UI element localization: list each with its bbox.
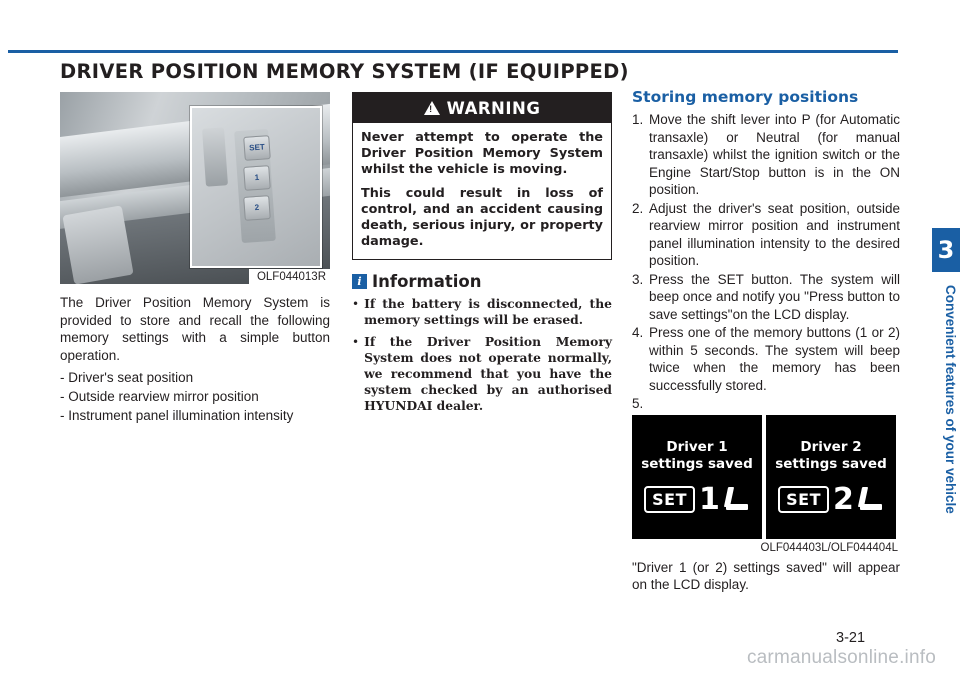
warning-paragraph: This could result in loss of control, an… — [361, 186, 603, 250]
step-item: 4. Press one of the memory buttons (1 or… — [632, 324, 900, 394]
information-title: Information — [372, 272, 482, 291]
lcd-glyph-row: SET 2 — [778, 485, 884, 515]
photo-image: SET 1 2 — [60, 92, 330, 284]
memory-button-callout: SET 1 2 — [190, 106, 322, 268]
lcd-line-1: Driver 2 — [800, 439, 861, 455]
lcd-line-2: settings saved — [641, 456, 753, 472]
chapter-number-tab: 3 — [932, 228, 960, 272]
column-middle: WARNING Never attempt to operate the Dri… — [352, 92, 612, 420]
step-item: 2. Adjust the driver's seat position, ou… — [632, 200, 900, 270]
lcd-row: Driver 1 settings saved SET 1 Driver 2 s… — [632, 415, 900, 539]
step-number: 1. — [632, 111, 649, 199]
seat-adjust-switch-graphic — [202, 127, 228, 186]
warning-paragraph: Never attempt to operate the Driver Posi… — [361, 130, 603, 178]
warning-title: WARNING — [447, 99, 541, 118]
lcd-driver-1-image: Driver 1 settings saved SET 1 — [632, 415, 762, 539]
lcd-figure: Driver 1 settings saved SET 1 Driver 2 s… — [632, 415, 900, 555]
closing-paragraph: "Driver 1 (or 2) settings saved" will ap… — [632, 559, 900, 594]
lcd-driver-2-image: Driver 2 settings saved SET 2 — [766, 415, 896, 539]
column-right: Storing memory positions 1. Move the shi… — [632, 88, 900, 594]
lcd-line-2: settings saved — [775, 456, 887, 472]
step-number: 4. — [632, 324, 649, 394]
photo-caption: OLF044013R — [249, 269, 330, 284]
information-body: • If the battery is disconnected, the me… — [352, 296, 612, 414]
bullet-text: If the battery is disconnected, the memo… — [364, 296, 612, 328]
warning-triangle-icon — [424, 101, 440, 115]
lcd-memory-number: 2 — [833, 485, 854, 515]
chapter-side-label: Convenient features of your vehicle — [934, 285, 958, 585]
step-text: Press the SET button. The system will be… — [649, 271, 900, 324]
step-text: Press one of the memory buttons (1 or 2)… — [649, 324, 900, 394]
watermark: carmanualsonline.info — [747, 647, 936, 669]
information-icon: i — [352, 274, 367, 289]
figure-caption: OLF044403L/OLF044404L — [755, 540, 900, 555]
intro-paragraph: The Driver Position Memory System is pro… — [60, 294, 330, 364]
warning-body: Never attempt to operate the Driver Posi… — [353, 123, 611, 259]
memory-button-2: 2 — [243, 195, 271, 221]
lcd-glyph-row: SET 1 — [644, 485, 750, 515]
memory-button-1: 1 — [243, 165, 271, 191]
information-header: i Information — [352, 272, 612, 291]
step-item: 3. Press the SET button. The system will… — [632, 271, 900, 324]
step-text — [649, 395, 900, 413]
lcd-line-1: Driver 1 — [666, 439, 727, 455]
step-text: Move the shift lever into P (for Automat… — [649, 111, 900, 199]
header-rule — [8, 50, 898, 53]
step-number: 3. — [632, 271, 649, 324]
list-item: - Outside rearview mirror position — [60, 387, 330, 406]
step-number: 2. — [632, 200, 649, 270]
step-item: 1. Move the shift lever into P (for Auto… — [632, 111, 900, 199]
lcd-set-label: SET — [644, 486, 695, 513]
information-bullet: • If the Driver Position Memory System d… — [352, 334, 612, 414]
warning-box: WARNING Never attempt to operate the Dri… — [352, 92, 612, 260]
step-number: 5. — [632, 395, 649, 413]
lcd-set-label: SET — [778, 486, 829, 513]
list-item: - Driver's seat position — [60, 368, 330, 387]
bullet-dot-icon: • — [352, 334, 359, 414]
seat-icon — [858, 487, 884, 513]
lcd-caption-row: OLF044403L/OLF044404L — [632, 539, 900, 555]
door-handle-graphic — [62, 205, 133, 284]
step-text: Adjust the driver's seat position, outsi… — [649, 200, 900, 270]
bullet-text: If the Driver Position Memory System doe… — [364, 334, 612, 414]
intro-list: - Driver's seat position - Outside rearv… — [60, 368, 330, 425]
page-number: 3-21 — [836, 630, 865, 646]
door-memory-buttons-photo: SET 1 2 OLF044013R — [60, 92, 330, 284]
section-heading: Storing memory positions — [632, 88, 900, 106]
bullet-dot-icon: • — [352, 296, 359, 328]
manual-page: DRIVER POSITION MEMORY SYSTEM (IF EQUIPP… — [0, 0, 960, 675]
information-bullet: • If the battery is disconnected, the me… — [352, 296, 612, 328]
warning-header: WARNING — [353, 93, 611, 123]
lcd-memory-number: 1 — [699, 485, 720, 515]
list-item: - Instrument panel illumination intensit… — [60, 406, 330, 425]
memory-set-button: SET — [243, 135, 271, 161]
step-item: 5. — [632, 395, 900, 413]
page-title: DRIVER POSITION MEMORY SYSTEM (IF EQUIPP… — [60, 60, 820, 83]
column-left: SET 1 2 OLF044013R The Driver Position M… — [60, 92, 330, 425]
seat-icon — [724, 487, 750, 513]
